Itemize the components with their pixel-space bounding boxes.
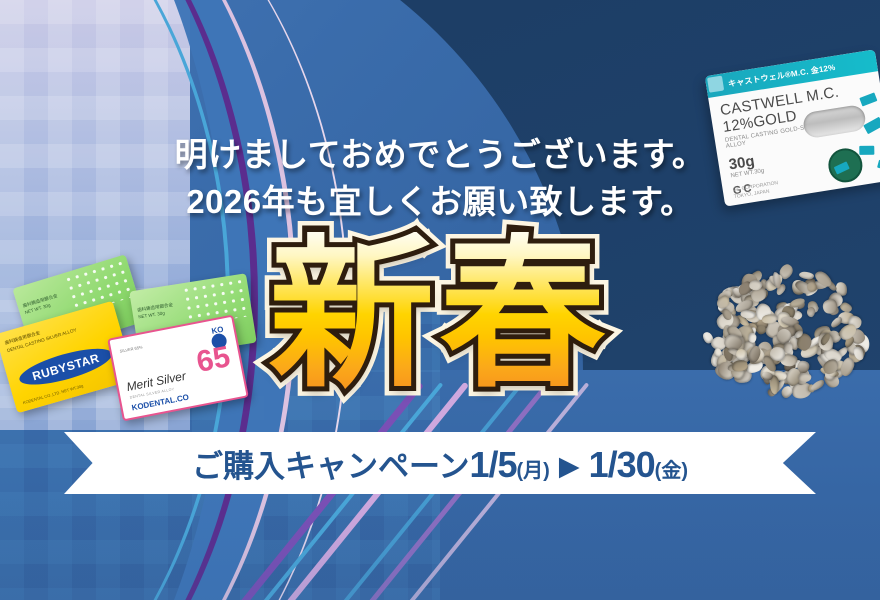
ribbon-label: ご購入キャンペーン	[192, 441, 469, 486]
campaign-banner: キャストウェル®M.C. 金12% CASTWELL M.C. 12%GOLD …	[0, 0, 880, 600]
ribbon-end-day: (金)	[655, 454, 688, 483]
greeting-block: 明けましておめでとうございます。 2026年も宜しくお願い致します。	[0, 132, 880, 226]
ribbon-text: ご購入キャンペーン 1/5 (月) ▶ 1/30 (金)	[192, 441, 688, 486]
greeting-line-2: 2026年も宜しくお願い致します。	[0, 179, 880, 226]
ribbon-end-date: 1/30	[589, 444, 655, 486]
castwell-corner-tab	[707, 76, 724, 93]
ribbon-start-date: 1/5	[469, 444, 516, 486]
greeting-line-1: 明けましておめでとうございます。	[0, 132, 880, 179]
campaign-ribbon: ご購入キャンペーン 1/5 (月) ▶ 1/30 (金)	[64, 432, 816, 494]
arrow-right-icon: ▶	[559, 451, 580, 482]
ribbon-start-day: (月)	[517, 454, 550, 483]
headline-shinshun: 新春 新春 新春	[269, 232, 611, 397]
headline-gold-layer: 新春	[269, 232, 611, 397]
headline-block: 新春 新春 新春	[0, 232, 880, 412]
